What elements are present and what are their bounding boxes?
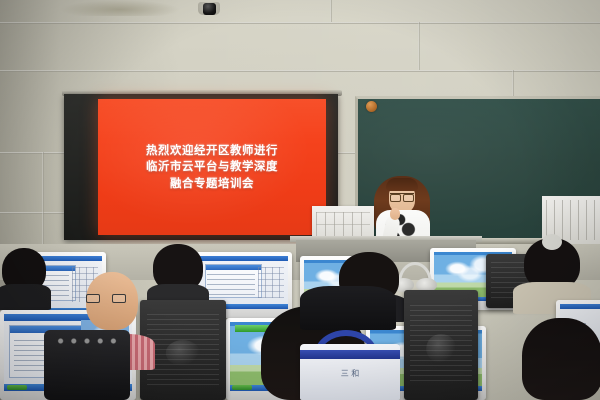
wall-seam-vertical-2 <box>330 0 332 22</box>
chalkboard-emblem-icon <box>366 101 377 112</box>
headphones-icon <box>398 262 432 292</box>
presenter-hand <box>390 208 400 220</box>
projection-screen: 热烈欢迎经开区教师进行 临沂市云平台与教学深度 融合专题培训会 <box>64 94 338 240</box>
tote-bag-stripe <box>300 350 400 359</box>
projected-slide: 热烈欢迎经开区教师进行 临沂市云平台与教学深度 融合专题培训会 <box>98 99 326 235</box>
student-center-shoulder <box>300 286 396 330</box>
student-glasses-icon <box>86 294 126 302</box>
window-titlebar <box>200 256 288 261</box>
window-titlebar <box>560 304 600 309</box>
ceiling-camera-icon <box>203 3 216 15</box>
dialog-titlebar <box>206 265 261 269</box>
slide-line-2: 临沂市云平台与教学深度 <box>98 158 326 174</box>
slide-line-3: 融合专题培训会 <box>98 175 326 191</box>
wall-seam-vertical-3 <box>418 22 420 70</box>
student-torso <box>300 286 396 330</box>
tote-bag-text: 三 和 <box>300 368 400 379</box>
wall-seam-1 <box>0 22 600 24</box>
ceiling-stain <box>60 0 180 16</box>
monitor-back-logo-icon <box>426 334 456 363</box>
student-far-left-edge <box>0 248 48 310</box>
start-button <box>232 385 251 390</box>
student-hair <box>522 318 600 400</box>
hair-clip-icon <box>542 234 562 250</box>
start-button <box>7 385 27 390</box>
black-bag-studs <box>54 336 120 346</box>
classroom-photo: 热烈欢迎经开区教师进行 临沂市云平台与教学深度 融合专题培训会 <box>0 0 600 400</box>
wall-seam-vertical-1 <box>42 152 44 244</box>
slide-text-block: 热烈欢迎经开区教师进行 临沂市云平台与教学深度 融合专题培训会 <box>98 142 326 191</box>
student-right-edge <box>520 318 600 400</box>
student-torso <box>0 284 51 310</box>
monitor-back-panel-center <box>404 290 478 400</box>
presenter-glasses-icon <box>390 193 414 200</box>
window-text-lines <box>207 274 255 295</box>
window-grid <box>258 267 284 299</box>
presenter-fringe <box>386 178 418 191</box>
slide-line-1: 热烈欢迎经开区教师进行 <box>98 142 326 158</box>
wall-seam-2 <box>0 70 600 72</box>
